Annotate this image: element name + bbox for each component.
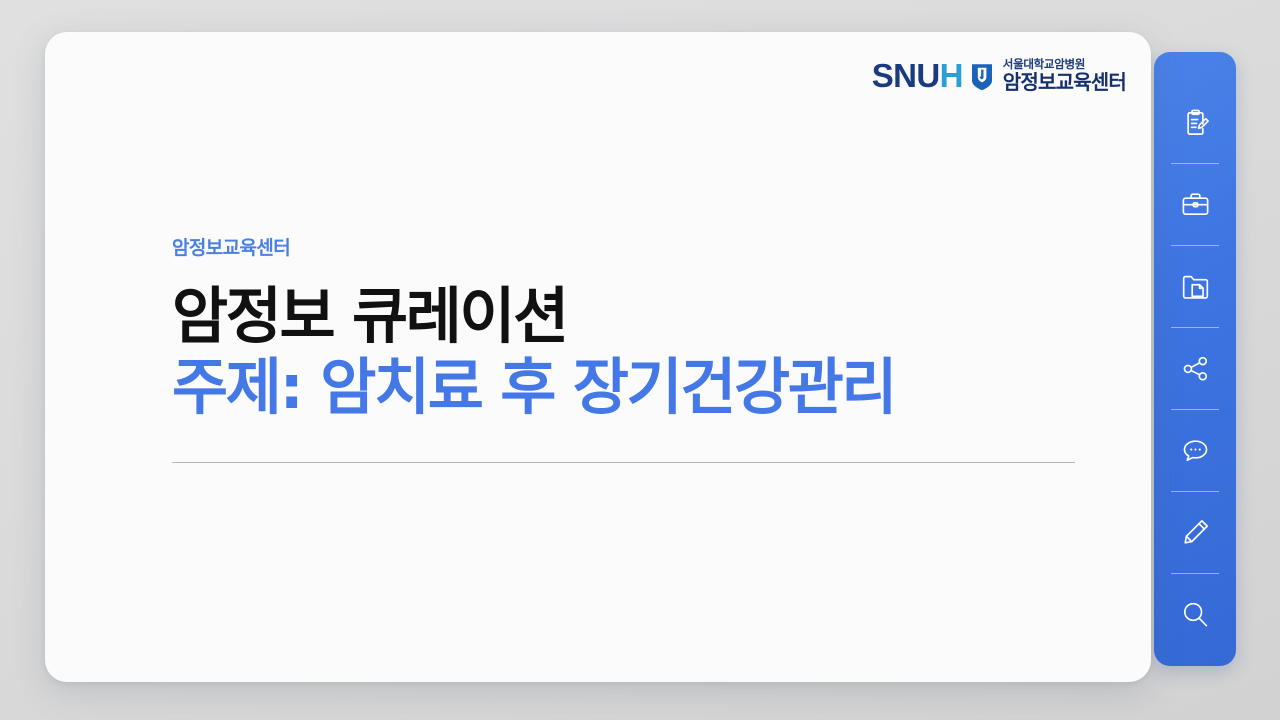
rail-divider	[1171, 573, 1219, 574]
rail-divider	[1171, 409, 1219, 410]
rail-divider	[1171, 327, 1219, 328]
hero-title-line-1: 암정보 큐레이션	[172, 281, 1092, 352]
brand-kr-hospital: 서울대학교암병원	[1003, 57, 1126, 71]
briefcase-icon	[1180, 189, 1211, 220]
rail-item-chat-bubble[interactable]	[1154, 424, 1236, 476]
rail-item-pencil[interactable]	[1154, 506, 1236, 558]
slide-stage: SNUH 서울대학교암병원 암정보교육센터 암정보교육센터 암정보 큐레이션 주…	[0, 0, 1280, 720]
brand-wordmark: SNUH	[872, 59, 963, 92]
rail-item-briefcase[interactable]	[1154, 178, 1236, 230]
rail-divider	[1171, 491, 1219, 492]
clipboard-pencil-icon	[1180, 107, 1211, 138]
hero-block: 암정보교육센터 암정보 큐레이션 주제: 암치료 후 장기건강관리	[172, 237, 1092, 463]
rail-divider	[1171, 163, 1219, 164]
brand-korean-block: 서울대학교암병원 암정보교육센터	[1003, 57, 1126, 94]
slide-card: SNUH 서울대학교암병원 암정보교육센터 암정보교육센터 암정보 큐레이션 주…	[45, 32, 1151, 682]
chat-bubble-icon	[1180, 435, 1211, 466]
brand-wordmark-dark: SNU	[872, 57, 940, 94]
folder-document-icon	[1180, 271, 1211, 302]
pencil-icon	[1180, 517, 1211, 548]
side-rail	[1154, 52, 1236, 666]
rail-item-folder-document[interactable]	[1154, 260, 1236, 312]
rail-divider	[1171, 245, 1219, 246]
brand-logo: SNUH 서울대학교암병원 암정보교육센터	[872, 57, 1126, 94]
brand-wordmark-light: H	[940, 57, 963, 94]
brand-kr-center: 암정보교육센터	[1003, 71, 1126, 94]
search-icon	[1180, 599, 1211, 630]
rail-item-share-network[interactable]	[1154, 342, 1236, 394]
hero-title-line-2: 주제: 암치료 후 장기건강관리	[172, 352, 1092, 423]
share-network-icon	[1180, 353, 1211, 384]
rail-item-search[interactable]	[1154, 588, 1236, 640]
hero-eyebrow: 암정보교육센터	[172, 237, 1092, 260]
rail-item-clipboard-pencil[interactable]	[1154, 96, 1236, 148]
shield-icon	[970, 61, 994, 91]
hero-divider	[172, 462, 1075, 463]
